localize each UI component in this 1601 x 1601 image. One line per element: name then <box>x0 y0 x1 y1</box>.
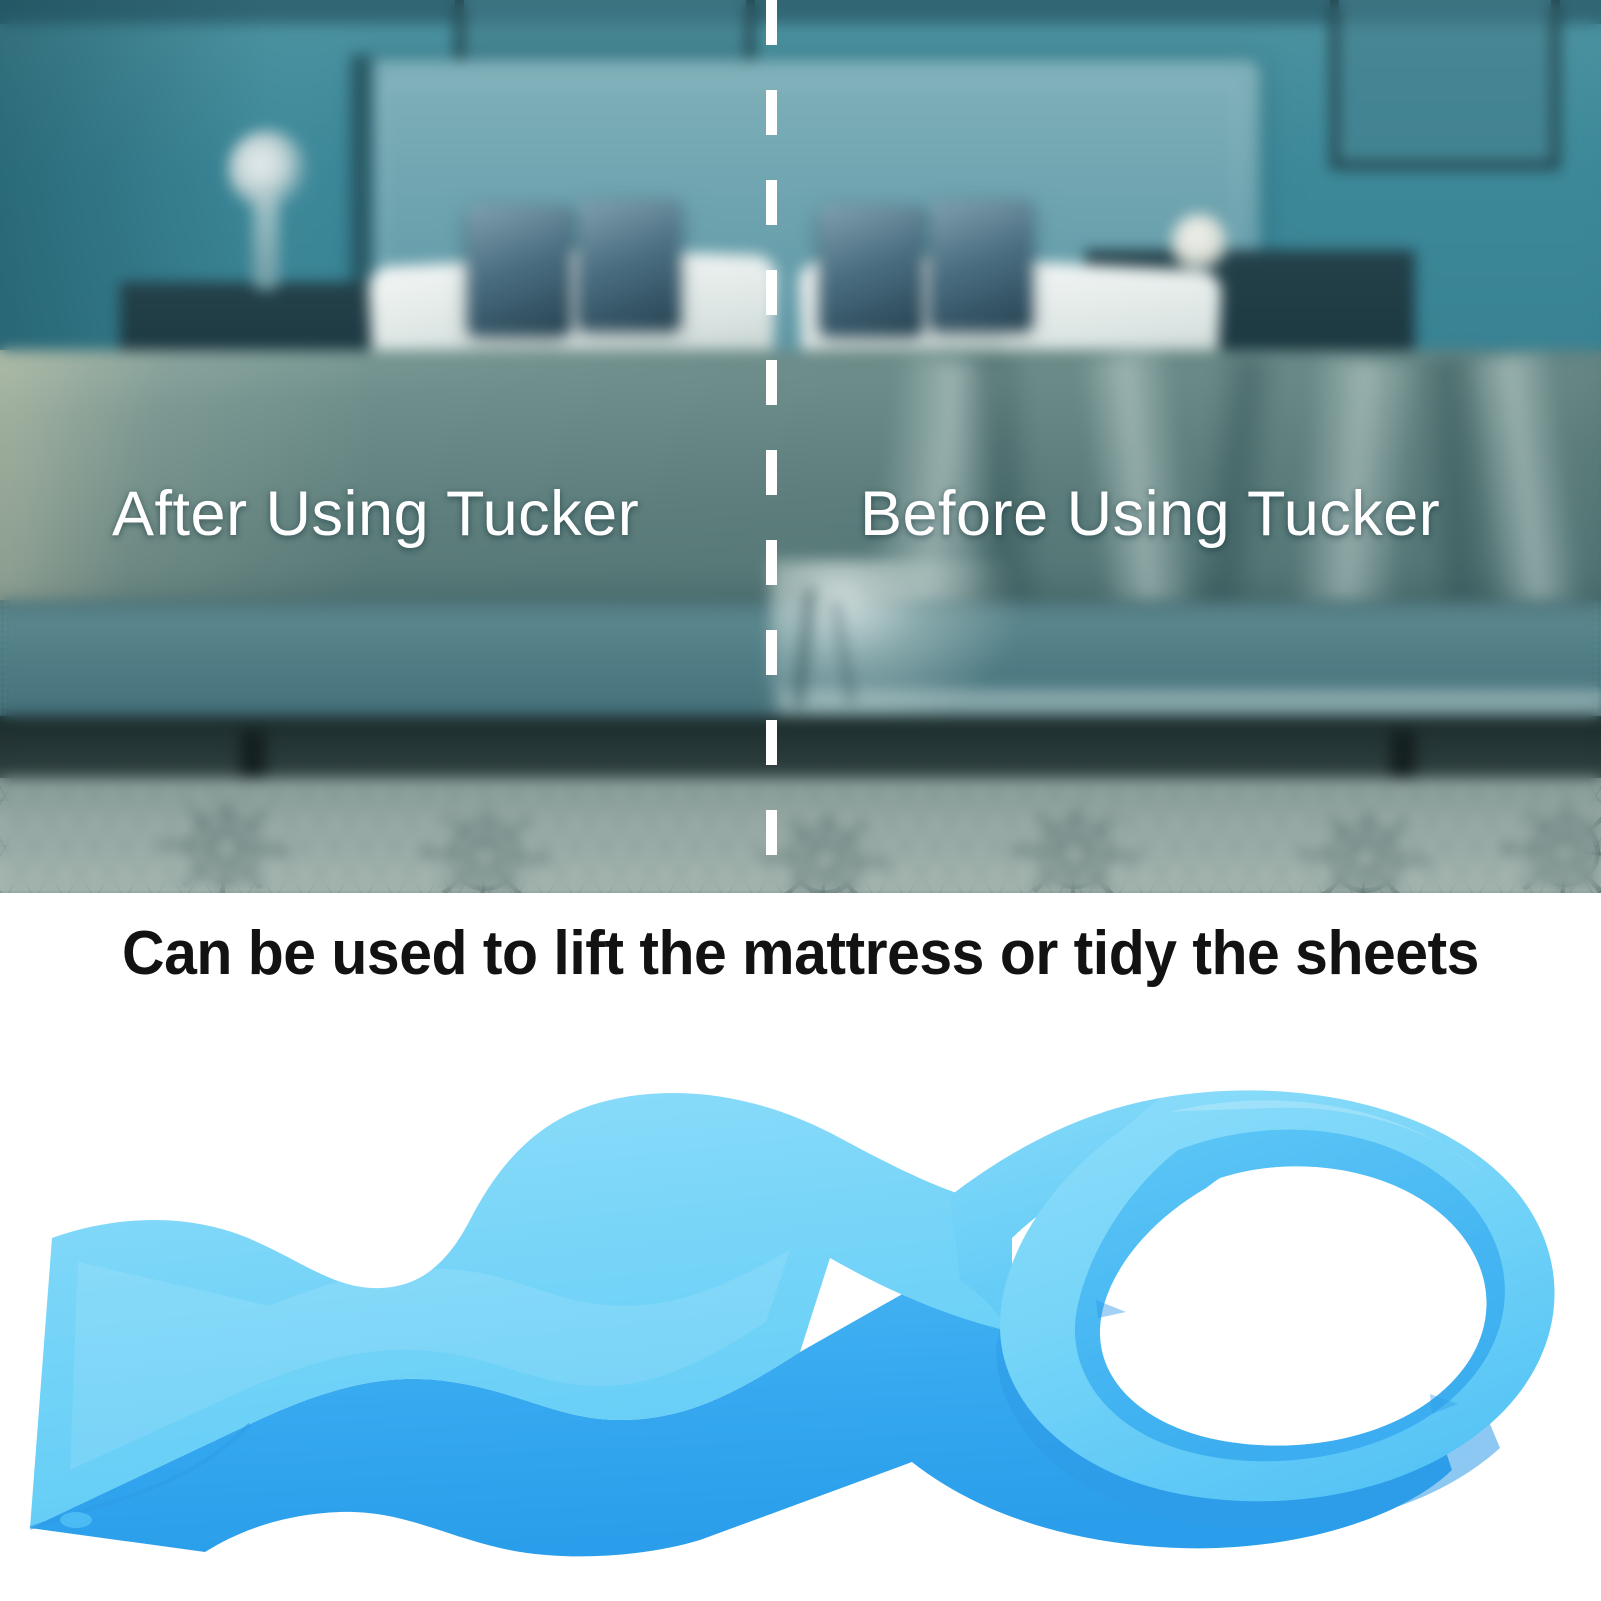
wall-picture-frame-right <box>1330 0 1560 170</box>
decorative-cushion <box>930 200 1032 330</box>
after-using-tucker-label: After Using Tucker <box>112 478 639 550</box>
product-tool-illustration <box>0 1000 1601 1601</box>
product-listing-image: After Using Tucker Before Using Tucker C… <box>0 0 1601 1601</box>
floor-tile-pattern <box>160 800 290 893</box>
flowers <box>228 130 308 210</box>
page-headline: Can be used to lift the mattress or tidy… <box>40 918 1561 989</box>
floor-tile-pattern <box>1010 806 1140 893</box>
tool-loop-seam-left <box>1096 1300 1126 1318</box>
decorative-cushion <box>468 205 570 335</box>
before-using-tucker-label: Before Using Tucker <box>860 478 1440 550</box>
comparison-photo: After Using Tucker Before Using Tucker <box>0 0 1601 893</box>
table-lamp <box>1172 214 1226 268</box>
tool-tip-nub <box>60 1512 92 1528</box>
decorative-cushion <box>578 200 680 330</box>
decorative-cushion <box>820 205 922 335</box>
comparison-divider-dashed-line <box>766 0 777 893</box>
floor-tile-pattern <box>420 808 550 893</box>
